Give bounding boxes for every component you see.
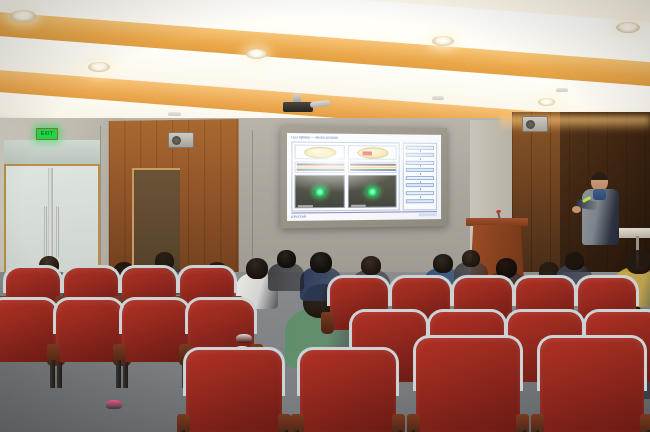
downlight-3 — [246, 49, 267, 59]
seat-trim — [119, 265, 179, 293]
downlight-5 — [616, 22, 640, 33]
attendee-head — [310, 252, 332, 273]
seat-trim — [61, 265, 121, 293]
seat-trim — [413, 335, 523, 391]
seat-armrest — [321, 312, 334, 334]
slide-footer: EPISTAR — [291, 211, 437, 219]
slide-footer-chip — [419, 213, 437, 216]
presenter — [578, 172, 624, 256]
wall-speaker-right — [522, 116, 548, 132]
seat-trim — [3, 265, 63, 293]
exit-sign-label: EXIT — [41, 132, 53, 137]
flow-arrow-1 — [406, 150, 434, 152]
door-handle-left[interactable] — [44, 206, 47, 258]
attendee-head — [433, 254, 453, 273]
slide-main-column — [291, 141, 399, 211]
layer-stack-left — [295, 161, 345, 173]
soffit-light-3 — [432, 96, 444, 100]
process-flowchart — [403, 143, 437, 211]
seat-trim — [183, 347, 285, 396]
seat-trim — [0, 297, 59, 334]
shoe-white-2 — [236, 334, 252, 343]
slide-red-callout — [363, 151, 372, 155]
seat-trim — [575, 275, 639, 306]
presenter-shirt-collar — [593, 189, 606, 200]
shoe-pink — [106, 400, 122, 409]
seat-trim — [177, 265, 237, 293]
screen-surface: LED epitaxy — device process — [287, 133, 441, 221]
presenter-hand — [572, 206, 581, 213]
seat-trim — [389, 275, 453, 306]
flow-arrow-3 — [406, 165, 434, 167]
layer-stack-row — [295, 161, 397, 173]
flow-arrow-2 — [406, 158, 434, 160]
auditorium-seat[interactable] — [416, 338, 520, 432]
seat-trim — [513, 275, 577, 306]
seat-trim — [53, 297, 125, 334]
flow-step-3 — [406, 160, 434, 164]
downlight-2 — [88, 62, 110, 72]
flow-arrow-6 — [406, 188, 434, 190]
wall-seam-b — [252, 130, 253, 270]
downlight-1 — [10, 10, 36, 22]
seat-trim — [185, 297, 257, 334]
flow-arrow-7 — [406, 196, 434, 198]
led-photo-left — [295, 175, 345, 208]
flow-step-4 — [406, 168, 434, 172]
flow-step-8 — [406, 199, 434, 203]
led-photo-row — [295, 175, 397, 208]
wafer-diagram-a — [304, 146, 336, 158]
flow-step-7 — [406, 191, 434, 195]
slide-logo: EPISTAR — [291, 214, 306, 218]
soffit-light-4 — [556, 88, 568, 92]
led-emission-right — [367, 187, 378, 196]
seat-trim — [297, 347, 399, 396]
attendee-head — [626, 250, 650, 274]
attendee-back-d — [268, 250, 304, 296]
seat-trim — [327, 275, 391, 306]
projection-screen: LED epitaxy — device process — [280, 126, 447, 229]
conference-room-photo: EXIT LED epitaxy — device process — [0, 0, 650, 432]
exit-sign: EXIT — [36, 128, 58, 140]
seat-leg — [116, 360, 121, 388]
led-caption-left — [298, 205, 313, 207]
auditorium-seat[interactable] — [540, 338, 644, 432]
led-emission-left — [314, 187, 326, 196]
flow-step-5 — [406, 176, 434, 180]
flow-arrow-5 — [406, 181, 434, 183]
slide-body — [291, 141, 437, 211]
seat-trim — [537, 335, 647, 391]
wafer-row — [295, 145, 397, 160]
wafer-diagram-b — [357, 147, 388, 158]
presentation-slide: LED epitaxy — device process — [287, 133, 441, 221]
attendee-head — [565, 252, 584, 270]
projector-body — [283, 102, 313, 112]
downlight-4 — [432, 36, 454, 46]
seat-trim — [451, 275, 515, 306]
wall-seam-a — [100, 126, 101, 276]
slide-title: LED epitaxy — device process — [291, 136, 437, 141]
attendee-head — [246, 258, 268, 279]
projector — [283, 98, 327, 112]
layer-stack-right — [348, 162, 397, 173]
flow-step-6 — [406, 183, 434, 187]
wafer-cell-b — [348, 145, 397, 160]
led-photo-right — [348, 175, 397, 208]
flow-step-2 — [406, 153, 434, 157]
flow-step-1 — [406, 145, 434, 149]
flow-arrow-4 — [406, 173, 434, 175]
auditorium-seat[interactable] — [300, 350, 396, 432]
attendee-head — [361, 256, 381, 275]
attendee-head — [462, 250, 480, 267]
led-caption-right — [351, 204, 366, 206]
door-handle-right[interactable] — [56, 206, 59, 258]
seat-leg — [50, 360, 55, 388]
podium-top — [466, 218, 528, 226]
soffit-light-2 — [168, 112, 181, 116]
auditorium-seat[interactable] — [186, 350, 282, 432]
downlight-6 — [538, 98, 555, 106]
wall-speaker-left — [168, 132, 194, 148]
attendee-head — [277, 250, 296, 268]
door-transom — [4, 140, 100, 166]
wafer-cell-a — [295, 145, 345, 160]
seat-trim — [119, 297, 191, 334]
